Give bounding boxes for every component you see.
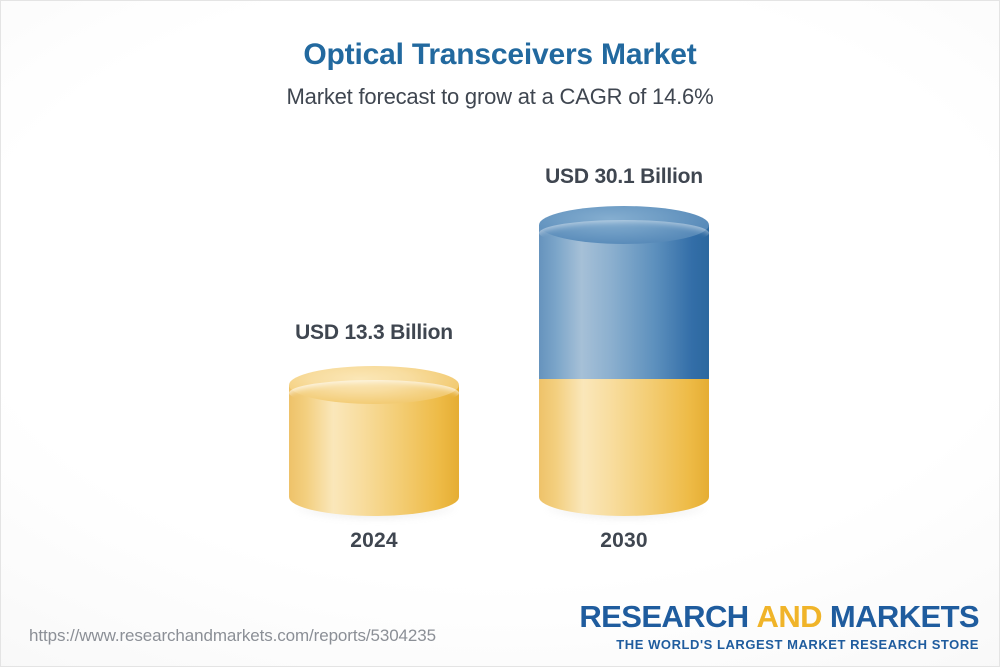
brand-word-research: RESEARCH bbox=[579, 599, 748, 634]
brand-tagline: THE WORLD'S LARGEST MARKET RESEARCH STOR… bbox=[579, 637, 979, 652]
bar-top-cap-2024 bbox=[289, 366, 459, 404]
bar-value-label-2030: USD 30.1 Billion bbox=[545, 165, 703, 189]
report-url-link[interactable]: https://www.researchandmarkets.com/repor… bbox=[29, 626, 436, 646]
brand-wordmark: RESEARCHANDMARKETS bbox=[579, 601, 979, 632]
bar-segment-growth-2030 bbox=[539, 225, 709, 379]
brand-word-markets: MARKETS bbox=[830, 599, 979, 634]
bar-body-2030 bbox=[539, 225, 709, 497]
bar-value-label-2024: USD 13.3 Billion bbox=[295, 321, 453, 345]
infographic-canvas: Optical Transceivers Market Market forec… bbox=[0, 0, 1000, 667]
bar-segment-base-2030 bbox=[539, 379, 709, 497]
bar-cylinder-2024[interactable] bbox=[289, 366, 459, 516]
chart-plot-area: USD 13.3 Billion 2024 USD 30.1 Billion bbox=[1, 1, 1000, 601]
bar-category-label-2024: 2024 bbox=[350, 529, 398, 553]
brand-word-and: AND bbox=[757, 599, 822, 634]
bar-top-cap-2030 bbox=[539, 206, 709, 244]
bar-cylinder-2030[interactable] bbox=[539, 206, 709, 516]
chart-footer: https://www.researchandmarkets.com/repor… bbox=[1, 594, 1000, 666]
bar-category-label-2030: 2030 bbox=[600, 529, 648, 553]
brand-logo[interactable]: RESEARCHANDMARKETS THE WORLD'S LARGEST M… bbox=[579, 601, 979, 652]
